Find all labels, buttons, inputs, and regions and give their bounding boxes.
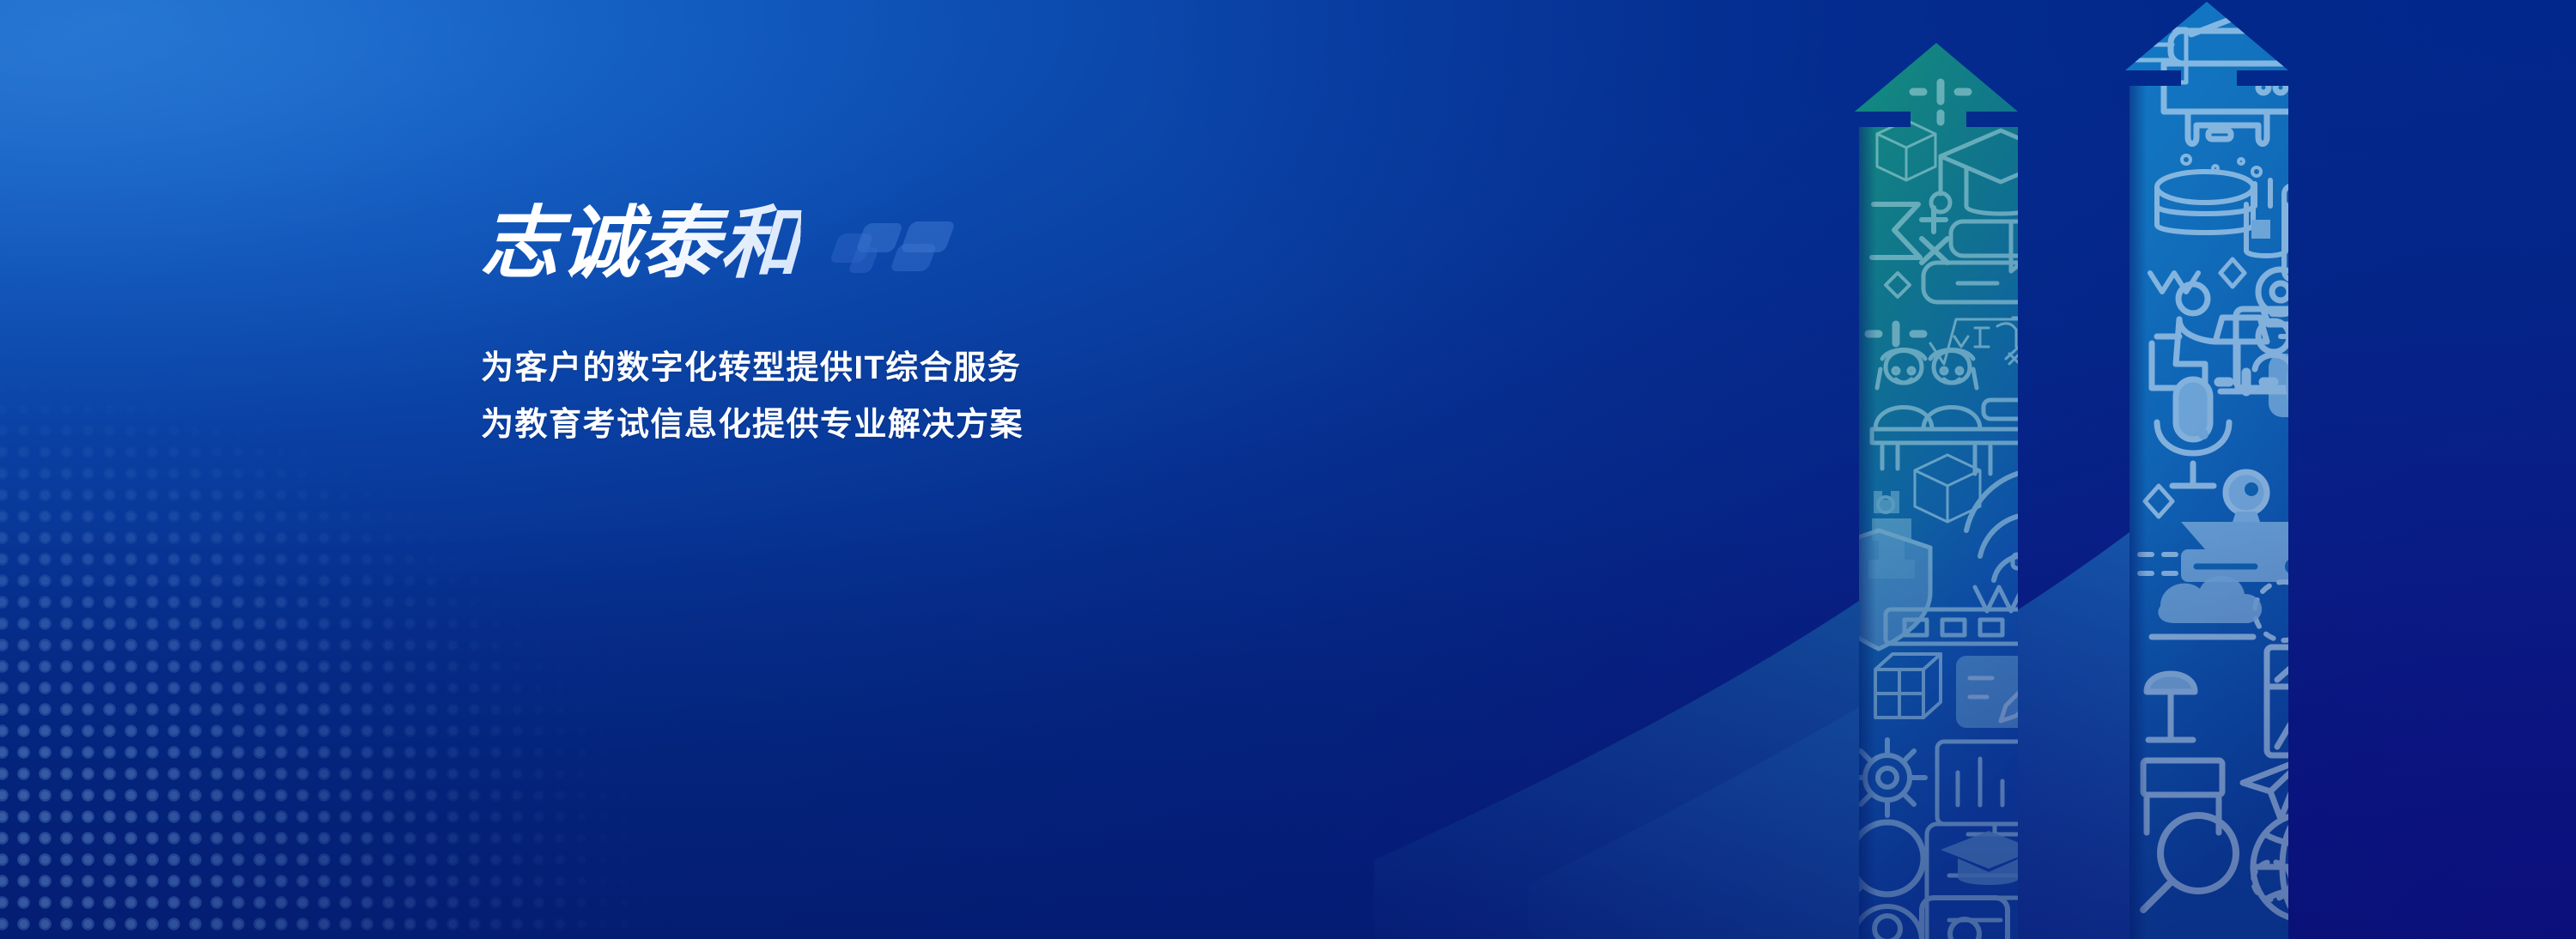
bottom-vignette [0, 0, 2576, 939]
hero-banner: 志诚泰和 为客户的数字化转型提供IT综合服务 为教育考试信息化提供专业解决方案 [0, 0, 2576, 939]
